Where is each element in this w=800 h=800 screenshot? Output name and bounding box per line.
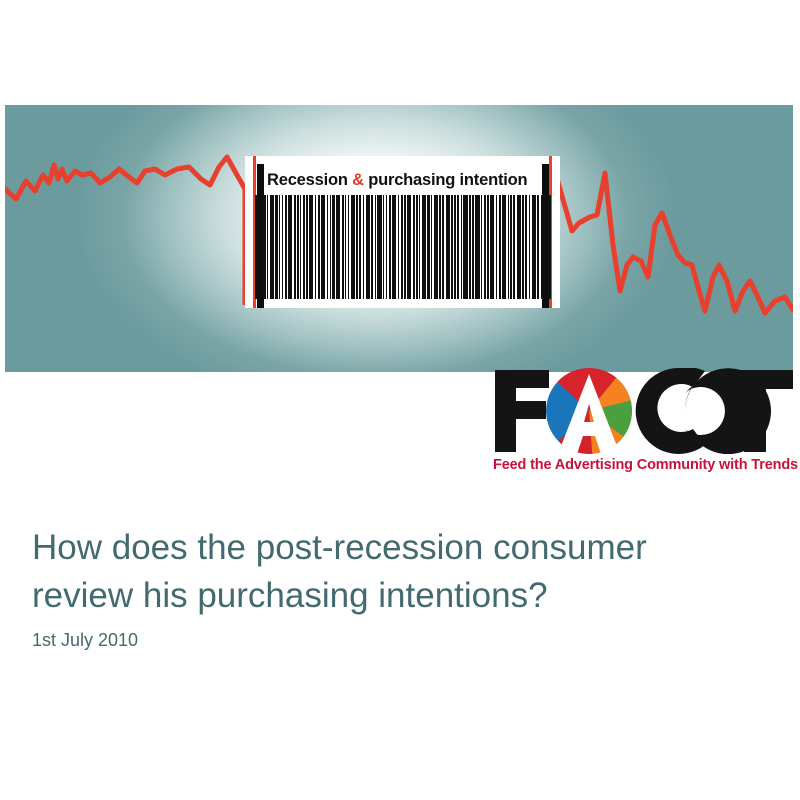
barcode-bar [419, 195, 420, 299]
barcode-bar [261, 195, 262, 299]
barcode-bar [532, 195, 536, 299]
trend-line-right-path [556, 173, 793, 313]
barcode-bar [442, 195, 444, 299]
barcode-title: Recession & purchasing intention [267, 169, 542, 191]
barcode-bar [401, 195, 403, 299]
barcode-bar [404, 195, 405, 299]
barcode-bars [255, 195, 552, 299]
barcode-bar [389, 195, 391, 299]
slide-root: Recession & purchasing intention [0, 0, 800, 800]
barcode-bar [434, 195, 438, 299]
barcode-bar [496, 195, 497, 299]
barcode-bar [270, 195, 274, 299]
barcode-bar [510, 195, 511, 299]
barcode-bar [383, 195, 384, 299]
trend-line-left-path [5, 157, 245, 199]
barcode-bar [461, 195, 462, 299]
barcode-bar [375, 195, 376, 299]
barcode-bar [546, 195, 550, 299]
barcode-title-part2: purchasing intention [364, 171, 528, 189]
barcode-bar [407, 195, 411, 299]
barcode-bar [342, 195, 344, 299]
barcode-bar [371, 195, 373, 299]
barcode-bar [413, 195, 415, 299]
barcode-bar [537, 195, 539, 299]
barcode-bar [321, 195, 325, 299]
barcode-bar [285, 195, 287, 299]
barcode-bar [484, 195, 486, 299]
barcode-bar [522, 195, 523, 299]
barcode-title-part1: Recession [267, 171, 352, 189]
barcode-bar [288, 195, 292, 299]
barcode-bar [513, 195, 515, 299]
barcode-bar [475, 195, 479, 299]
barcode-bar [294, 195, 296, 299]
fact-logo-mark [489, 368, 795, 454]
barcode-bar [544, 195, 545, 299]
barcode-bar [392, 195, 396, 299]
barcode-bar [330, 195, 331, 299]
barcode-bar [517, 195, 521, 299]
barcode-bar [345, 195, 346, 299]
fact-logo-svg [489, 368, 795, 454]
recession-banner: Recession & purchasing intention [5, 105, 793, 372]
barcode-bar [469, 195, 471, 299]
barcode-bar [255, 195, 259, 299]
barcode-bar [282, 195, 283, 299]
barcode-bar [457, 195, 459, 299]
barcode-bar [472, 195, 473, 299]
barcode-bar [303, 195, 305, 299]
barcode-bar [363, 195, 364, 299]
barcode-bar [351, 195, 355, 299]
barcode-bar [263, 195, 265, 299]
barcode-bar [348, 195, 349, 299]
barcode-bar [454, 195, 455, 299]
barcode-bar [267, 195, 268, 299]
barcode-bar [481, 195, 482, 299]
barcode-bar [463, 195, 467, 299]
barcode-bar [422, 195, 426, 299]
barcode-bar [356, 195, 357, 299]
barcode-bar [508, 195, 509, 299]
barcode-bar [416, 195, 417, 299]
barcode-bar [377, 195, 381, 299]
barcode-bar [366, 195, 370, 299]
page-title: How does the post-recession consumer rev… [32, 524, 752, 620]
barcode-bar [332, 195, 334, 299]
fact-logo-tagline: Feed the Advertising Community with Tren… [493, 456, 795, 475]
barcode-bar [315, 195, 316, 299]
barcode-bar [439, 195, 440, 299]
barcode-bar [336, 195, 340, 299]
barcode-graphic: Recession & purchasing intention [245, 156, 560, 308]
barcode-bar [297, 195, 298, 299]
barcode-bar [309, 195, 313, 299]
page-date: 1st July 2010 [32, 628, 138, 652]
fact-logo: Feed the Advertising Community with Tren… [489, 368, 795, 480]
barcode-bar [499, 195, 501, 299]
barcode-bar [451, 195, 452, 299]
barcode-bar [359, 195, 361, 299]
barcode-title-ampersand: & [352, 171, 364, 189]
barcode-bar [446, 195, 450, 299]
barcode-bar [502, 195, 506, 299]
logo-letter-f [495, 370, 549, 452]
barcode-bar [275, 195, 277, 299]
barcode-bar [318, 195, 320, 299]
barcode-bar [427, 195, 429, 299]
barcode-bar [431, 195, 432, 299]
barcode-bar [529, 195, 530, 299]
barcode-bar [386, 195, 387, 299]
barcode-bar [300, 195, 301, 299]
barcode-bar [279, 195, 280, 299]
logo-letter-c-shape [636, 368, 705, 454]
barcode-bar [541, 195, 542, 299]
barcode-bar [490, 195, 494, 299]
barcode-bar [306, 195, 307, 299]
barcode-bar [525, 195, 527, 299]
barcode-bar [327, 195, 328, 299]
barcode-bar [398, 195, 399, 299]
barcode-bar [487, 195, 488, 299]
